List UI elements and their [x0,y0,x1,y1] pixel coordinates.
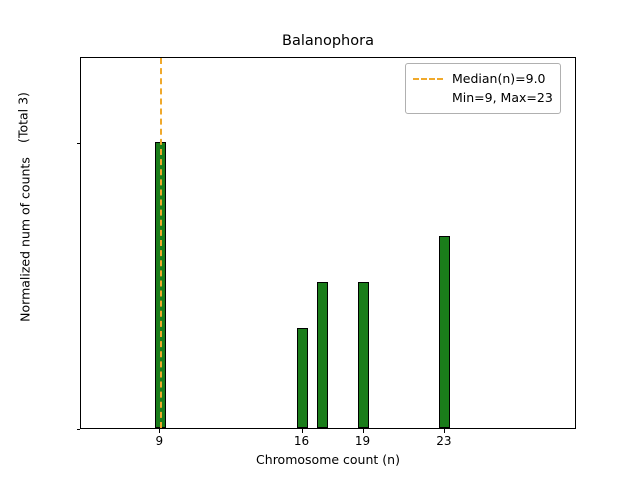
y-tick-mark [77,143,81,144]
y-tick-mark [77,429,81,430]
y-axis-label-total: (Total 3) [16,48,31,188]
x-tick-mark [302,429,303,433]
legend-item-label: Min=9, Max=23 [452,90,553,105]
median-line [160,58,162,428]
legend: Median(n)=9.0 Min=9, Max=23 [405,63,561,114]
bar [358,282,369,428]
y-axis-label-group: Normalized num of counts (Total 3) [0,0,46,480]
legend-item-median: Median(n)=9.0 [413,69,553,88]
x-tick-label: 23 [436,434,451,448]
bar [439,236,450,428]
legend-item-range: Min=9, Max=23 [413,88,553,107]
x-tick-label: 16 [294,434,309,448]
x-tick-mark [444,429,445,433]
figure-canvas: Balanophora 019161923 Chromosome count (… [0,0,640,480]
x-axis-label: Chromosome count (n) [80,452,576,467]
page-title: Balanophora [80,31,576,51]
bar [317,282,328,428]
x-tick-label: 19 [355,434,370,448]
bar [297,328,308,428]
x-tick-mark [363,429,364,433]
legend-item-label: Median(n)=9.0 [452,71,546,86]
x-tick-mark [159,429,160,433]
dashed-line-icon [413,78,443,80]
x-tick-label: 9 [155,434,163,448]
